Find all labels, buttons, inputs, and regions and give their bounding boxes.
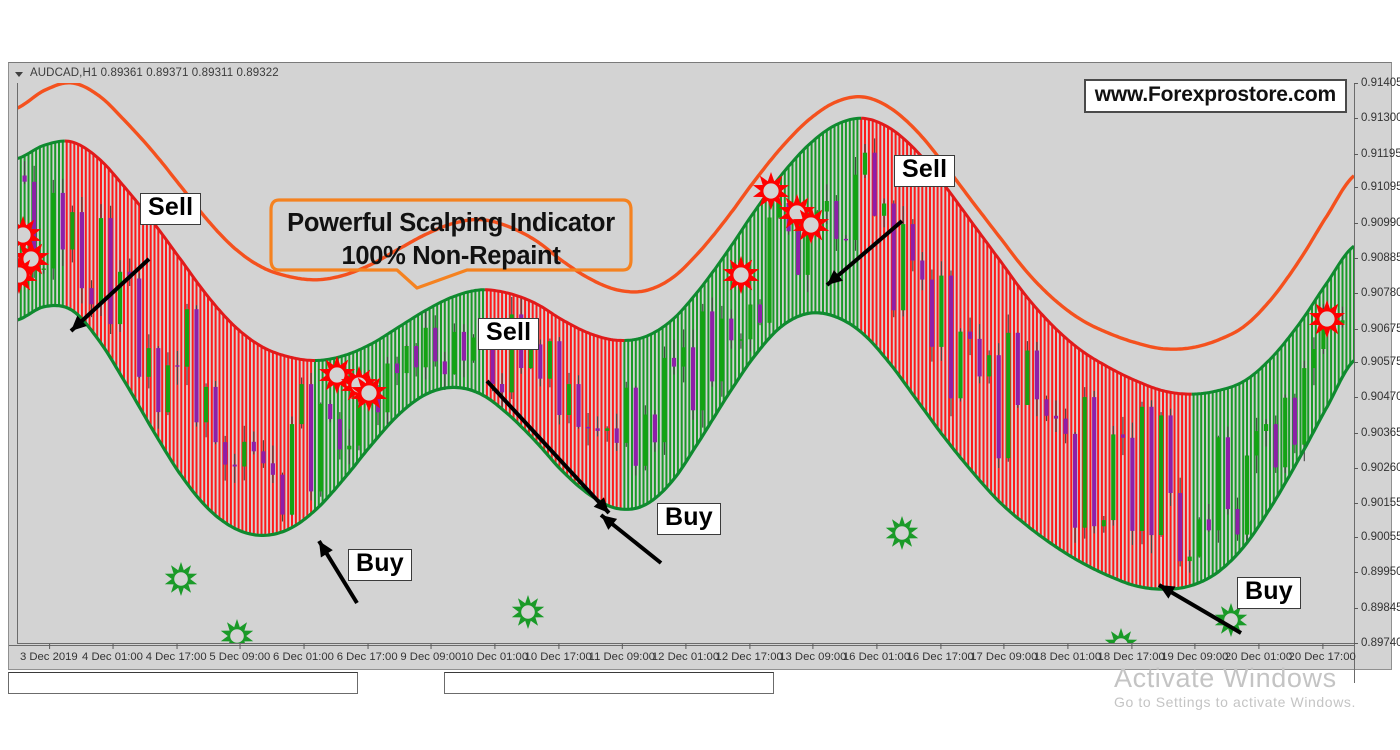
price-tick-label: 0.89950 (1354, 566, 1400, 578)
sell-signal-label: Sell (894, 155, 955, 187)
price-tick-label: 0.90260 (1354, 462, 1400, 474)
time-tick-label: 12 Dec 01:00 (652, 651, 719, 663)
time-tick-label: 6 Dec 17:00 (337, 651, 398, 663)
time-tick-label: 10 Dec 01:00 (461, 651, 528, 663)
time-tick-label: 12 Dec 17:00 (716, 651, 783, 663)
buy-arrow-2 (601, 515, 661, 563)
time-tick-label: 13 Dec 09:00 (779, 651, 846, 663)
time-axis[interactable]: 3 Dec 20194 Dec 01:004 Dec 17:005 Dec 09… (9, 645, 1355, 669)
time-tick-label: 20 Dec 01:00 (1225, 651, 1292, 663)
buy-signal-label: Buy (1237, 577, 1301, 609)
chevron-down-icon[interactable] (15, 72, 23, 77)
sell-signal-label: Sell (478, 318, 539, 350)
screenshot-root: AUDCAD,H1 0.89361 0.89371 0.89311 0.8932… (0, 0, 1400, 750)
time-tick-label: 10 Dec 17:00 (525, 651, 592, 663)
buy-signal-label: Buy (348, 549, 412, 581)
price-tick-label: 0.90155 (1354, 497, 1400, 509)
time-tick-label: 11 Dec 09:00 (589, 651, 655, 663)
buy-star-marker (886, 516, 918, 550)
symbol-quote-label: AUDCAD,H1 0.89361 0.89371 0.89311 0.8932… (30, 67, 279, 79)
promo-callout: Powerful Scalping Indicator 100% Non-Rep… (267, 196, 635, 292)
plot-left-border (17, 83, 18, 644)
buy-arrow-3 (1159, 585, 1241, 633)
time-tick-label: 9 Dec 09:00 (400, 651, 461, 663)
price-tick-label: 0.90675 (1354, 323, 1400, 335)
time-tick-label: 5 Dec 09:00 (209, 651, 270, 663)
time-tick-label: 17 Dec 09:00 (970, 651, 1037, 663)
time-axis-line (9, 645, 1355, 646)
buy-star-marker (512, 595, 544, 629)
bottom-tab-left[interactable] (8, 672, 358, 694)
price-tick-label: 0.89845 (1354, 602, 1400, 614)
buy-signal-label: Buy (657, 503, 721, 535)
price-tick-label: 0.90365 (1354, 427, 1400, 439)
promo-line-1: Powerful Scalping Indicator (267, 207, 635, 240)
time-tick-label: 16 Dec 17:00 (907, 651, 974, 663)
price-tick-label: 0.89740 (1354, 637, 1400, 649)
time-tick-label: 3 Dec 2019 (20, 651, 78, 663)
sell-signal-label: Sell (140, 193, 201, 225)
price-tick-label: 0.91405 (1354, 77, 1400, 89)
price-tick-label: 0.90780 (1354, 287, 1400, 299)
time-tick-label: 4 Dec 17:00 (146, 651, 207, 663)
time-tick-label: 20 Dec 17:00 (1289, 651, 1356, 663)
price-tick-label: 0.90055 (1354, 531, 1400, 543)
time-tick-label: 18 Dec 17:00 (1098, 651, 1165, 663)
price-tick-label: 0.90470 (1354, 391, 1400, 403)
price-axis[interactable]: 0.914050.913000.911950.910950.909900.908… (1354, 83, 1400, 653)
time-tick-label: 6 Dec 01:00 (273, 651, 334, 663)
buy-star-marker (221, 619, 253, 643)
price-tick-label: 0.91300 (1354, 112, 1400, 124)
price-tick-label: 0.90990 (1354, 217, 1400, 229)
price-tick-label: 0.90885 (1354, 252, 1400, 264)
promo-text-block: Powerful Scalping Indicator 100% Non-Rep… (267, 207, 635, 272)
price-tick-label: 0.91095 (1354, 181, 1400, 193)
windows-activation-watermark: Activate Windows Go to Settings to activ… (1114, 663, 1400, 710)
promo-line-2: 100% Non-Repaint (267, 240, 635, 273)
time-tick-label: 18 Dec 01:00 (1034, 651, 1101, 663)
bottom-tab-right[interactable] (444, 672, 774, 694)
buy-star-marker (1105, 628, 1137, 643)
time-tick-label: 4 Dec 01:00 (82, 651, 143, 663)
chart-canvas (17, 83, 1354, 643)
chart-window: AUDCAD,H1 0.89361 0.89371 0.89311 0.8932… (8, 62, 1392, 670)
price-tick-label: 0.91195 (1354, 148, 1400, 160)
time-tick-label: 19 Dec 09:00 (1161, 651, 1228, 663)
price-tick-label: 0.90575 (1354, 356, 1400, 368)
time-tick-label: 16 Dec 01:00 (843, 651, 910, 663)
watermark-line-2: Go to Settings to activate Windows. (1114, 694, 1400, 710)
website-url-badge: www.Forexprostore.com (1084, 79, 1347, 113)
buy-star-marker (165, 562, 197, 596)
price-chart-plot[interactable] (17, 83, 1354, 643)
